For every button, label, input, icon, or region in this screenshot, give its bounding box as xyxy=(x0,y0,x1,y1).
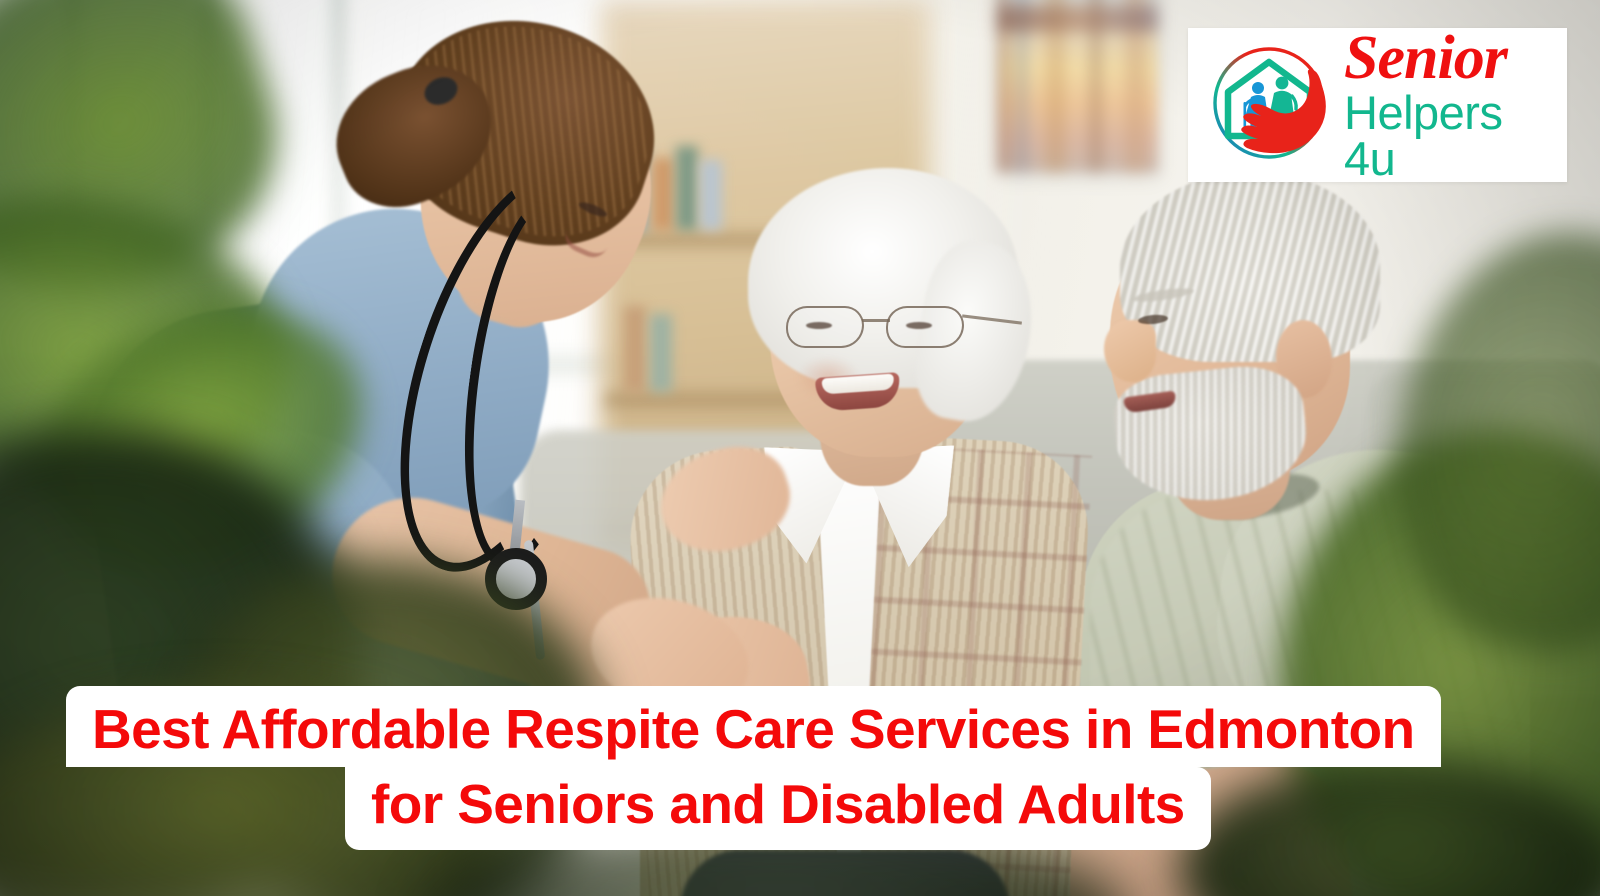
brand-wordmark: Senior Helpers 4u xyxy=(1344,28,1553,183)
headline-line-1: Best Affordable Respite Care Services in… xyxy=(66,686,1441,767)
man-hair xyxy=(1120,172,1380,362)
stethoscope-chestpiece xyxy=(485,548,547,610)
brand-name-line1: Senior xyxy=(1344,28,1553,89)
hero-banner: Senior Helpers 4u Best Affordable Respit… xyxy=(0,0,1600,896)
headline-block: Best Affordable Respite Care Services in… xyxy=(0,686,1600,850)
eyeglass-bridge xyxy=(862,319,890,322)
woman-eye-left xyxy=(806,322,832,329)
man-nose xyxy=(1104,320,1156,382)
brand-logo[interactable]: Senior Helpers 4u xyxy=(1188,28,1567,182)
brand-name-line2: Helpers 4u xyxy=(1344,90,1553,182)
wall-painting xyxy=(998,0,1158,172)
senior-helpers-4u-logo-mark-icon xyxy=(1204,40,1334,170)
woman-eye-right xyxy=(906,322,932,329)
headline-line-2: for Seniors and Disabled Adults xyxy=(345,767,1211,850)
painting-band xyxy=(998,6,1158,32)
